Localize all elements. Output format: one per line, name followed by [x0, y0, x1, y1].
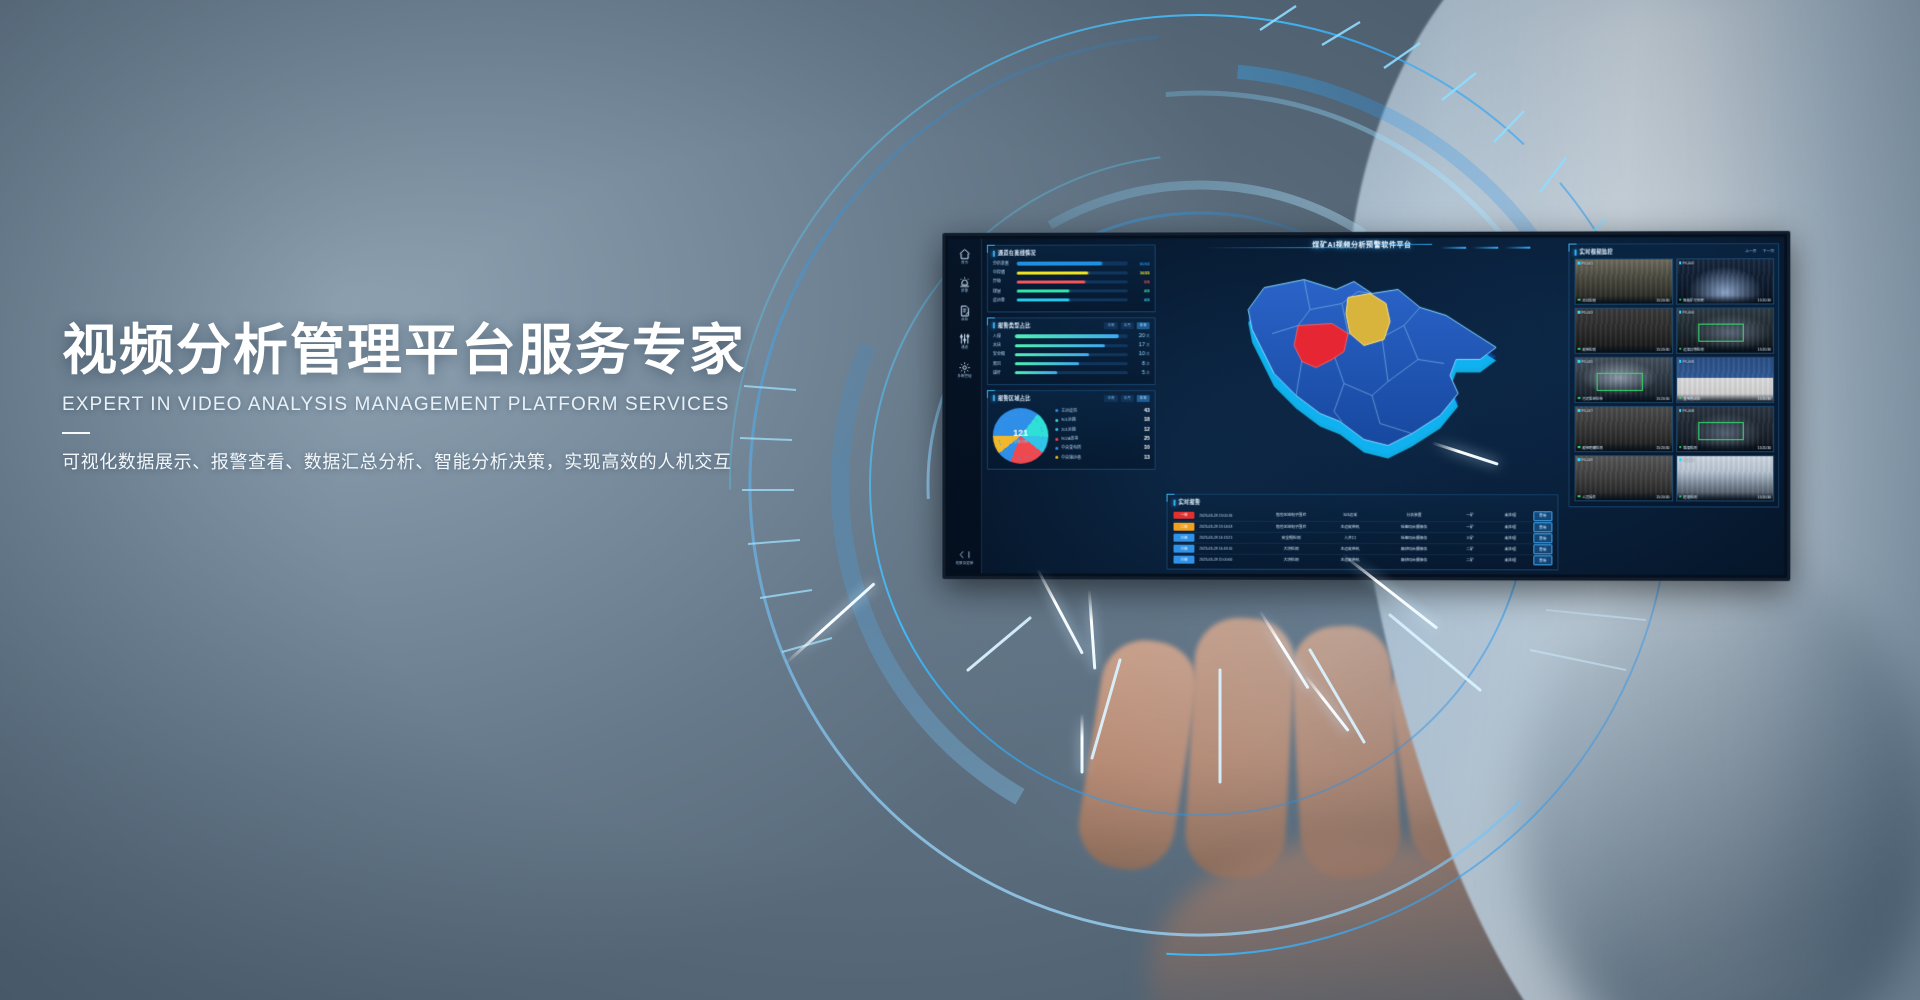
bar-label: 入侵 [993, 333, 1015, 339]
online-dot-icon [1578, 495, 1581, 498]
sidebar-rail: 首页 报警 巡检 通道 [948, 239, 982, 573]
hero-title: 视频分析管理平台服务专家 [62, 320, 882, 382]
bar-value: 6/9 [1128, 279, 1150, 284]
camera-tile[interactable]: FX-005污泥堆坐检带15:20:30 [1575, 357, 1673, 403]
camera-id: FX-008 [1679, 409, 1694, 413]
period-tab-本周[interactable]: 本周 [1104, 322, 1117, 329]
title-marker [1174, 499, 1176, 505]
record-dot-icon [1578, 458, 1581, 461]
title-marker [993, 323, 995, 329]
panel-title-text: 实时报警 [1178, 499, 1200, 506]
status-badge: 一级 [1174, 511, 1195, 519]
legend-value: 43 [1144, 408, 1150, 414]
panel-title-text: 通道在离线情况 [998, 250, 1036, 257]
legend-item[interactable]: 901运输18 [1055, 417, 1149, 423]
camera-tile[interactable]: FX-010超速检测15:20:30 [1676, 455, 1774, 501]
camera-time: 15:20:30 [1758, 495, 1771, 499]
legend-label: 主运皮带 [1061, 408, 1144, 414]
bar-unit: 次 [1146, 343, 1149, 347]
record-dot-icon [1679, 311, 1682, 314]
bar-label: 锚杆 [993, 370, 1015, 376]
bar-track [1015, 344, 1128, 347]
sidebar-label: 报警 [948, 290, 981, 293]
period-tabs: 本周本月本年 [1104, 322, 1149, 329]
camera-name: 皮带跑偏检测 [1578, 445, 1603, 450]
camera-time: 15:20:30 [1656, 446, 1669, 450]
table-row[interactable]: 一级2023-03-28 13:00:16危险区域电子围栏101运采分析装置一矿… [1174, 510, 1553, 522]
record-dot-icon [1679, 360, 1682, 363]
online-dot-icon [1578, 397, 1581, 400]
cell-mine: 三矿 [1450, 536, 1490, 541]
camera-time: 15:20:30 [1656, 495, 1669, 499]
status-badge: 二级 [1174, 523, 1195, 531]
camera-name: 人员操作 [1578, 494, 1596, 499]
alarm-type-bar-list: 入侵20次大块17次安全帽10次离岗8次锚杆5次 [993, 333, 1150, 376]
cell-area: 入井口 [1322, 535, 1378, 540]
cell-mine: 二矿 [1450, 547, 1490, 552]
bar-unit: 次 [1146, 334, 1149, 338]
camera-tile[interactable]: FX-007皮带跑偏检测15:20:30 [1575, 406, 1673, 452]
status-badge: 三级 [1174, 534, 1195, 542]
video-monitor-panel: 实时视频监控 上一页 下一页 FX-001本位检测15:20:30FX-002智… [1569, 243, 1780, 507]
sidebar-item-inspection[interactable]: 巡检 [948, 304, 981, 321]
table-row[interactable]: 二级2023-03-28 13:14:03危险区域电子围栏主运皮带机低速码台摄像… [1174, 521, 1553, 533]
cell-area: 101运采 [1322, 513, 1378, 518]
cell-device: 低速码台摄像仪 [1378, 525, 1450, 530]
bar-fill [1017, 280, 1086, 283]
title-marker [993, 250, 995, 256]
camera-id: FX-010 [1679, 458, 1694, 462]
legend-label: 902A放等 [1061, 436, 1144, 442]
legend-item[interactable]: 中央变电所10 [1055, 445, 1149, 451]
light-streak [1081, 714, 1084, 774]
legend-label: 中央辅运巷 [1061, 455, 1144, 461]
bar-fill [1017, 271, 1088, 274]
camera-grid: FX-001本位检测15:20:30FX-002智能矿灯照明15:20:30FX… [1575, 258, 1775, 501]
bar-track [1017, 289, 1128, 292]
cell-status: 未处理 [1490, 558, 1530, 563]
legend-item[interactable]: 主运皮带43 [1055, 408, 1149, 414]
cell-time: 2023-03-28 13:14:03 [1194, 525, 1260, 529]
inspection-icon [958, 304, 971, 317]
record-dot-icon [1679, 409, 1682, 412]
panel-title: 报警区域占比 [993, 395, 1031, 402]
camera-tile[interactable]: FX-001本位检测15:20:30 [1575, 258, 1673, 304]
camera-footer: 皮带检测15:20:30 [1576, 345, 1672, 353]
bar-label: 分析装置 [993, 261, 1017, 267]
record-dot-icon [1578, 262, 1581, 265]
video-pagination: 上一页 下一页 [1745, 249, 1774, 254]
alarm-type-row: 离岗8次 [993, 361, 1150, 367]
bar-label: 皮运查 [993, 297, 1017, 303]
camera-footer: 皮带跑偏检测15:20:30 [1576, 443, 1672, 451]
bar-fill [1017, 299, 1069, 302]
sidebar-label: 巡检 [948, 318, 981, 321]
collapse-icon [958, 548, 971, 561]
record-dot-icon [1578, 360, 1581, 363]
title-marker [993, 395, 995, 401]
bar-label: 离岗 [993, 361, 1015, 367]
legend-value: 25 [1144, 436, 1150, 442]
camera-id: FX-007 [1578, 409, 1593, 413]
online-dot-icon [1679, 298, 1682, 301]
camera-tile[interactable]: FX-009人员操作15:20:30 [1575, 455, 1673, 501]
bar-track [1017, 271, 1128, 274]
cell-device: 高帧码台摄像仪 [1378, 547, 1450, 552]
camera-time: 15:20:30 [1758, 347, 1771, 351]
cell-type: 安全帽检测 [1260, 535, 1322, 540]
camera-time: 15:20:30 [1758, 396, 1771, 400]
camera-id: FX-003 [1578, 310, 1593, 314]
bar-unit: 次 [1146, 362, 1149, 366]
realtime-alarm-panel: 实时报警 一级2023-03-28 13:00:16危险区域电子围栏101运采分… [1167, 494, 1559, 571]
panel-title: 报警类型占比 [993, 322, 1031, 329]
camera-footer: 污泥堆坐检带15:20:30 [1576, 394, 1672, 402]
bar-fill [1015, 344, 1105, 347]
alarm-type-row: 锚杆5次 [993, 370, 1150, 376]
channel-status-panel: 通道在离线情况 分析装置50/65中控通16/25异物6/9煤量4/9皮运查4/… [987, 244, 1156, 312]
cell-device: 高帧码台摄像仪 [1378, 558, 1450, 563]
donut-chart: 121 报警次数 [993, 408, 1048, 464]
online-dot-icon [1578, 446, 1581, 449]
legend-label: 201运输 [1061, 427, 1144, 433]
bar-track [1015, 371, 1128, 374]
gear-icon [958, 361, 971, 374]
left-panel-column: 通道在离线情况 分析装置50/65中控通16/25异物6/9煤量4/9皮运查4/… [982, 238, 1161, 573]
panel-header: 报警类型占比 本周本月本年 [993, 322, 1150, 329]
legend-color-dot [1055, 447, 1058, 450]
channel-bar-row: 煤量4/9 [993, 288, 1150, 294]
record-dot-icon [1679, 458, 1682, 461]
cell-type: 危险区域电子围栏 [1260, 524, 1322, 529]
map-area[interactable]: 煤矿AI视频分析预警软件平台 [1161, 238, 1565, 495]
donut-center-label: 报警次数 [1014, 438, 1027, 443]
camera-tile[interactable]: FX-003皮带检测15:20:30 [1575, 308, 1673, 354]
home-icon [958, 248, 971, 261]
channel-bar-row: 异物6/9 [993, 279, 1150, 285]
panel-header: 实时视频监控 上一页 下一页 [1575, 248, 1775, 255]
table-row[interactable]: 三级2023-03-28 15:00:00大块检测主运皮带机高帧码台摄像仪二矿未… [1174, 554, 1553, 566]
region-map[interactable] [1212, 263, 1512, 468]
dashboard-monitor: 首页 报警 巡检 通道 [942, 231, 1790, 581]
legend-color-dot [1055, 437, 1058, 440]
bar-label: 安全帽 [993, 352, 1015, 358]
hero-subtitle: EXPERT IN VIDEO ANALYSIS MANAGEMENT PLAT… [62, 394, 882, 416]
hero-copy: 视频分析管理平台服务专家 EXPERT IN VIDEO ANALYSIS MA… [62, 320, 882, 474]
bar-label: 煤量 [993, 288, 1017, 294]
bar-track [1015, 362, 1128, 365]
record-dot-icon [1679, 261, 1682, 264]
bar-value: 5次 [1128, 370, 1150, 376]
period-tab-本年[interactable]: 本年 [1137, 395, 1150, 402]
alarm-area-panel: 报警区域占比 本周本月本年 121 报警次数 主运皮带43901运输18201运… [987, 390, 1156, 470]
bar-track [1017, 262, 1128, 265]
sidebar-label: 通道 [948, 347, 981, 350]
period-tabs: 本周本月本年 [1104, 395, 1149, 402]
bar-value: 10次 [1128, 351, 1150, 357]
bar-unit: 次 [1146, 371, 1149, 375]
camera-id: FX-005 [1578, 359, 1593, 363]
detection-box [1698, 422, 1744, 440]
view-button[interactable]: 查看 [1533, 511, 1552, 521]
camera-name: 运煤异物检测 [1679, 346, 1704, 351]
bar-track [1015, 335, 1128, 338]
panel-title: 实时报警 [1174, 499, 1201, 506]
camera-name: 超速检测 [1679, 494, 1697, 499]
panel-title-text: 报警区域占比 [998, 395, 1031, 402]
alarm-type-row: 安全帽10次 [993, 351, 1150, 357]
camera-id: FX-002 [1679, 261, 1694, 265]
camera-name: 变电所巡检 [1679, 395, 1701, 400]
camera-footer: 变电所巡检15:20:30 [1677, 394, 1773, 402]
channel-bar-row: 中控通16/25 [993, 270, 1150, 276]
cell-time: 2023-03-28 14:43:10 [1194, 547, 1260, 551]
cell-type: 大块检测 [1260, 546, 1322, 551]
view-button[interactable]: 查看 [1533, 533, 1552, 543]
dashboard-screen: 首页 报警 巡检 通道 [948, 237, 1784, 575]
bar-fill [1015, 362, 1079, 365]
channel-icon [958, 333, 971, 346]
donut-center: 121 报警次数 [1005, 420, 1037, 452]
donut-chart-wrap: 121 报警次数 主运皮带43901运输18201运输12902A放等25中央变… [993, 406, 1150, 464]
panel-title-text: 报警类型占比 [998, 322, 1031, 329]
alarm-type-panel: 报警类型占比 本周本月本年 入侵20次大块17次安全帽10次离岗8次锚杆5次 [987, 317, 1156, 385]
camera-name: 堆煤检测 [1679, 445, 1697, 450]
legend-item[interactable]: 902A放等25 [1055, 436, 1149, 442]
online-dot-icon [1679, 446, 1682, 449]
camera-time: 15:20:30 [1656, 347, 1669, 351]
period-tab-本周[interactable]: 本周 [1104, 395, 1117, 402]
camera-footer: 运煤异物检测15:20:30 [1677, 345, 1773, 353]
bar-fill [1015, 353, 1090, 356]
view-button[interactable]: 查看 [1533, 555, 1552, 565]
legend-value: 18 [1144, 417, 1150, 423]
sidebar-item-alarm[interactable]: 报警 [948, 276, 981, 293]
sidebar-item-collapse[interactable]: 权限及更新 [948, 548, 981, 565]
channel-bar-list: 分析装置50/65中控通16/25异物6/9煤量4/9皮运查4/9 [993, 260, 1150, 303]
legend-item[interactable]: 201运输12 [1055, 427, 1149, 433]
cell-time: 2023-03-28 15:00:00 [1194, 558, 1260, 562]
legend-color-dot [1055, 428, 1058, 431]
detection-box [1698, 324, 1744, 342]
camera-footer: 超速检测15:20:30 [1677, 492, 1773, 500]
cell-status: 未处理 [1490, 536, 1530, 541]
cell-device: 低速码台摄像仪 [1378, 536, 1450, 541]
cell-mine: 一矿 [1450, 525, 1490, 530]
camera-tile[interactable]: FX-008堆煤检测15:20:30 [1676, 406, 1774, 452]
online-dot-icon [1679, 495, 1682, 498]
bar-value: 17次 [1128, 342, 1150, 348]
camera-id: FX-001 [1578, 261, 1593, 265]
legend-label: 901运输 [1061, 417, 1144, 423]
online-dot-icon [1578, 348, 1581, 351]
cell-status: 未处理 [1490, 513, 1530, 518]
video-column: 实时视频监控 上一页 下一页 FX-001本位检测15:20:30FX-002智… [1564, 237, 1784, 575]
camera-name: 皮带检测 [1578, 346, 1596, 351]
center-column: 煤矿AI视频分析预警软件平台 [1161, 238, 1565, 575]
cell-status: 未处理 [1490, 547, 1530, 552]
camera-footer: 智能矿灯照明15:20:30 [1677, 295, 1773, 303]
sidebar-label: 系统管理 [948, 375, 981, 378]
table-row[interactable]: 三级2023-03-28 14:43:10大块检测主运皮带机高帧码台摄像仪二矿未… [1174, 543, 1553, 555]
cell-type: 危险区域电子围栏 [1260, 513, 1322, 518]
camera-tile[interactable]: FX-006变电所巡检15:20:30 [1676, 357, 1774, 403]
bar-track [1015, 353, 1128, 356]
camera-id: FX-004 [1679, 310, 1694, 314]
period-tab-本年[interactable]: 本年 [1137, 322, 1150, 329]
legend-item[interactable]: 中央辅运巷13 [1055, 455, 1149, 461]
camera-footer: 本位检测15:20:30 [1576, 296, 1672, 304]
bar-fill [1017, 262, 1103, 265]
legend-color-dot [1055, 456, 1058, 459]
record-dot-icon [1578, 311, 1581, 314]
legend-value: 13 [1144, 455, 1150, 461]
bar-track [1017, 298, 1128, 301]
legend-value: 10 [1144, 445, 1150, 451]
camera-footer: 人员操作15:20:30 [1576, 492, 1672, 500]
camera-footer: 堆煤检测15:20:30 [1677, 443, 1773, 451]
camera-tile[interactable]: FX-002智能矿灯照明15:20:30 [1676, 258, 1774, 304]
online-dot-icon [1578, 298, 1581, 301]
panel-header: 报警区域占比 本周本月本年 [993, 395, 1150, 402]
bar-fill [1015, 371, 1058, 374]
cell-type: 大块检测 [1260, 557, 1322, 562]
channel-bar-row: 皮运查4/9 [993, 297, 1150, 303]
bar-value: 16/25 [1128, 270, 1150, 275]
cell-time: 2023-03-28 13:00:16 [1194, 513, 1260, 517]
sidebar-label: 首页 [948, 262, 981, 265]
record-dot-icon [1578, 409, 1581, 412]
view-button[interactable]: 查看 [1533, 522, 1552, 532]
camera-id: FX-009 [1578, 458, 1593, 462]
cell-status: 未处理 [1490, 525, 1530, 530]
cell-mine: 二矿 [1450, 558, 1490, 563]
camera-name: 污泥堆坐检带 [1578, 395, 1603, 400]
donut-center-value: 121 [1013, 428, 1028, 437]
panel-title: 通道在离线情况 [993, 250, 1036, 257]
camera-time: 15:20:30 [1758, 446, 1771, 450]
legend-color-dot [1055, 409, 1058, 412]
sidebar-label: 权限及更新 [948, 562, 981, 565]
cell-time: 2023-03-28 14:13:21 [1194, 536, 1260, 540]
panel-header: 实时报警 [1174, 499, 1553, 506]
bar-fill [1015, 335, 1119, 338]
cell-mine: 一矿 [1450, 513, 1490, 518]
donut-legend: 主运皮带43901运输18201运输12902A放等25中央变电所10中央辅运巷… [1048, 408, 1149, 464]
alarm-type-row: 大块17次 [993, 342, 1150, 348]
online-dot-icon [1679, 348, 1682, 351]
camera-name: 智能矿灯照明 [1679, 297, 1704, 302]
cell-area: 主运皮带机 [1322, 546, 1378, 551]
online-dot-icon [1679, 397, 1682, 400]
bar-value: 20次 [1128, 333, 1150, 339]
bar-value: 4/9 [1128, 288, 1150, 293]
page-title: 煤矿AI视频分析预警软件平台 [1161, 240, 1565, 251]
panel-header: 通道在离线情况 [993, 249, 1150, 256]
status-badge: 三级 [1174, 556, 1195, 564]
detection-box [1597, 373, 1643, 391]
bar-label: 异物 [993, 279, 1017, 285]
bar-unit: 次 [1146, 352, 1149, 356]
channel-bar-row: 分析装置50/65 [993, 260, 1150, 266]
view-button[interactable]: 查看 [1533, 544, 1552, 554]
prev-page-button[interactable]: 上一页 [1745, 249, 1757, 254]
legend-label: 中央变电所 [1061, 445, 1144, 451]
camera-name: 本位检测 [1578, 297, 1596, 302]
legend-color-dot [1055, 419, 1058, 422]
table-row[interactable]: 三级2023-03-28 14:13:21安全帽检测入井口低速码台摄像仪三矿未处… [1174, 532, 1553, 544]
next-page-button[interactable]: 下一页 [1763, 249, 1775, 254]
period-tab-本月[interactable]: 本月 [1120, 395, 1133, 402]
status-badge: 三级 [1174, 545, 1195, 553]
divider [62, 432, 90, 434]
camera-id: FX-006 [1679, 359, 1694, 363]
sidebar-item-home[interactable]: 首页 [948, 248, 981, 265]
alarm-type-row: 入侵20次 [993, 333, 1150, 339]
alarm-icon [958, 276, 971, 289]
legend-value: 12 [1144, 427, 1150, 433]
bar-value: 8次 [1128, 361, 1150, 367]
cell-area: 主运皮带机 [1322, 524, 1378, 529]
cell-device: 分析装置 [1378, 513, 1450, 518]
sidebar-item-channel[interactable]: 通道 [948, 333, 981, 350]
sidebar-item-system[interactable]: 系统管理 [948, 361, 981, 378]
camera-time: 15:20:30 [1656, 298, 1669, 302]
bar-fill [1017, 289, 1069, 292]
panel-title: 实时视频监控 [1575, 248, 1613, 255]
bar-value: 4/9 [1128, 298, 1150, 303]
bar-label: 中控通 [993, 270, 1017, 276]
bar-value: 50/65 [1128, 261, 1150, 266]
title-marker [1575, 249, 1577, 255]
alarm-table-body: 一级2023-03-28 13:00:16危险区域电子围栏101运采分析装置一矿… [1174, 510, 1553, 566]
period-tab-本月[interactable]: 本月 [1120, 322, 1133, 329]
bar-track [1017, 280, 1128, 283]
camera-tile[interactable]: FX-004运煤异物检测15:20:30 [1676, 307, 1774, 353]
panel-title-text: 实时视频监控 [1580, 248, 1613, 255]
bar-label: 大块 [993, 342, 1015, 348]
camera-time: 15:20:30 [1758, 298, 1771, 302]
hero-description: 可视化数据展示、报警查看、数据汇总分析、智能分析决策，实现高效的人机交互 [62, 448, 882, 474]
camera-time: 15:20:30 [1656, 396, 1669, 400]
